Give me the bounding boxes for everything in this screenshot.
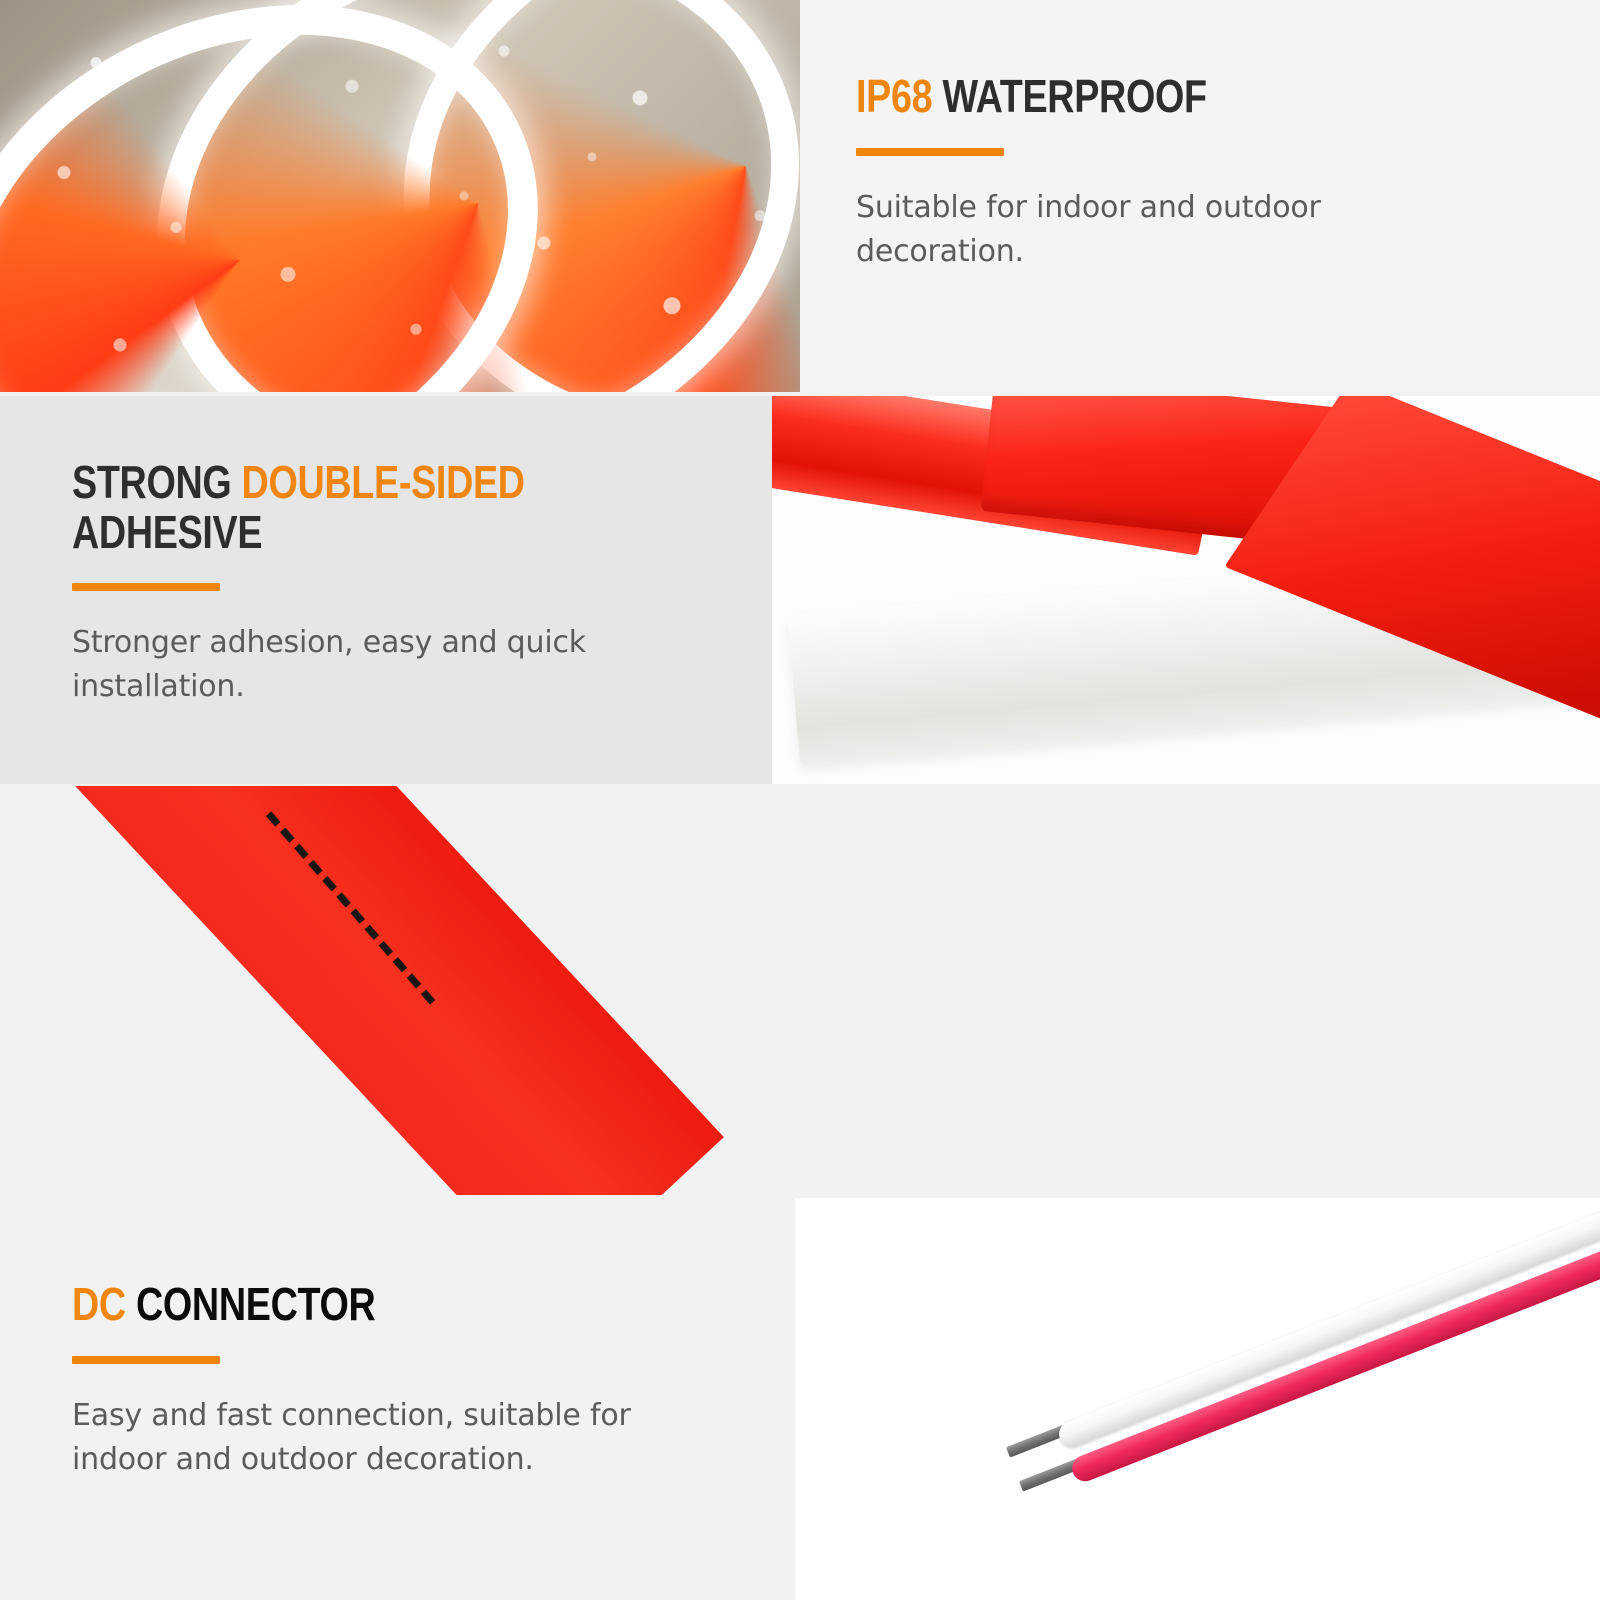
dc-connector-body: Easy and fast connection, suitable for i… [72, 1394, 712, 1482]
feature-row-dc-connector: DC CONNECTOR Easy and fast connection, s… [0, 1198, 1600, 1600]
red-strip-diagonal [0, 786, 724, 1195]
adhesive-photo [772, 396, 1600, 784]
adhesive-title: STRONG DOUBLE-SIDED ADHESIVE [72, 458, 646, 557]
adhesive-text-panel: STRONG DOUBLE-SIDED ADHESIVE Stronger ad… [0, 396, 772, 784]
waterproof-title: IP68 WATERPROOF [856, 72, 1466, 122]
adhesive-title-line2: ADHESIVE [72, 506, 262, 558]
adhesive-underline-rule [72, 583, 220, 591]
product-feature-infographic: IP68 WATERPROOF Suitable for indoor and … [0, 0, 1600, 1600]
dc-connector-title-rest: CONNECTOR [136, 1278, 375, 1330]
adhesive-title-accent: DOUBLE-SIDED [242, 456, 525, 508]
waterproof-photo [0, 0, 800, 392]
waterproof-body: Suitable for indoor and outdoor decorati… [856, 186, 1496, 274]
adhesive-title-lead: STRONG [72, 456, 231, 508]
waterproof-title-accent: IP68 [856, 70, 932, 122]
adhesive-body: Stronger adhesion, easy and quick instal… [72, 621, 712, 709]
dc-connector-title-accent: DC [72, 1278, 126, 1330]
waterproof-underline-rule [856, 148, 1004, 156]
dc-connector-photo [795, 1198, 1600, 1600]
white-wire [1055, 1198, 1600, 1451]
dc-connector-underline-rule [72, 1356, 220, 1364]
feature-row-waterproof: IP68 WATERPROOF Suitable for indoor and … [0, 0, 1600, 392]
feature-row-adhesive: STRONG DOUBLE-SIDED ADHESIVE Stronger ad… [0, 396, 1600, 784]
dc-connector-text-panel: DC CONNECTOR Easy and fast connection, s… [0, 1198, 795, 1600]
feature-row-cutting: Cutting CUTTING SIZE: 5CM Every 5cm can … [0, 786, 1600, 1195]
waterproof-title-rest: WATERPROOF [942, 70, 1206, 122]
waterproof-text-panel: IP68 WATERPROOF Suitable for indoor and … [800, 0, 1600, 392]
dc-connector-title: DC CONNECTOR [72, 1280, 665, 1330]
